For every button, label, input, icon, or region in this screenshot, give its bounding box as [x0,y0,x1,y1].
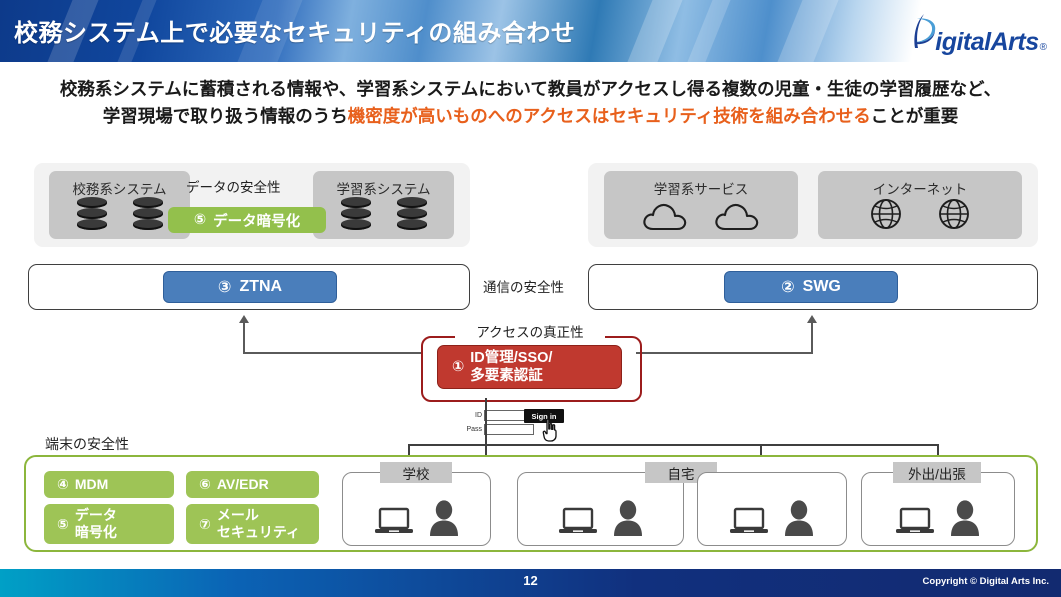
login-id-label: ID [462,412,482,419]
chip-av-edr[interactable]: ⑥ AV/EDR [186,471,319,498]
connector-right-arrow [807,315,817,323]
digital-arts-logo: igitalArts ® [904,12,1047,57]
lead-line-2-before: 学習現場で取り扱う情報のうち [103,106,348,126]
database-icon [397,197,427,231]
comm-security-caption: 通信の安全性 [483,276,564,296]
chip-av-edr-label: AV/EDR [217,476,269,493]
person-icon [949,500,981,536]
cloud-icon [714,201,760,231]
chip-mail-security-number: ⑦ [199,516,211,533]
access-authenticity-caption: アクセスの真正性 [455,321,605,341]
login-id-row: ID [462,410,582,421]
laptop-icon [729,506,769,536]
lead-paragraph: 校務系システムに蓄積される情報や、学習系システムにおいて教員がアクセスし得る複数… [0,76,1061,130]
chip-id-management-line2: 多要素認証 [470,368,543,384]
location-box-home-1 [517,472,684,546]
database-icon [341,197,371,231]
learning-service-box: 学習系サービス [604,171,798,239]
page-title: 校務システム上で必要なセキュリティの組み合わせ [14,13,575,48]
chip-id-management-number: ① [452,358,464,376]
person-icon [612,500,644,536]
chip-ztna[interactable]: ③ ZTNA [163,271,337,303]
chip-id-management-label: ID管理/SSO/ 多要素認証 [470,349,552,385]
learning-service-label: 学習系サービス [604,178,798,198]
chip-data-encryption-device[interactable]: ⑤ データ 暗号化 [44,504,174,544]
location-devices-home-2 [698,500,846,536]
connector-right-vertical [811,322,813,353]
chip-data-encryption-label: データ暗号化 [213,210,300,231]
connector-left-arrow [239,315,249,323]
lead-line-2: 学習現場で取り扱う情報のうち機密度が高いものへのアクセスはセキュリティ技術を組み… [0,103,1061,130]
database-icon [133,197,163,231]
cloud-icon [642,201,688,231]
learning-system-label: 学習系システム [313,178,454,198]
chip-av-edr-number: ⑥ [199,476,211,493]
chip-mdm-number: ④ [57,476,69,493]
location-label-travel: 外出/出張 [893,462,981,483]
chip-mdm[interactable]: ④ MDM [44,471,174,498]
login-pass-row: Pass [462,424,582,435]
login-form: ID Pass [462,410,582,444]
chip-ztna-number: ③ [218,277,232,297]
chip-mail-security[interactable]: ⑦ メール セキュリティ [186,504,319,544]
chip-mail-security-label: メール セキュリティ [217,507,300,541]
login-pass-label: Pass [462,426,482,433]
copyright-notice: Copyright © Digital Arts Inc. [923,576,1049,587]
chip-data-encryption: ⑤ データ暗号化 [168,207,326,233]
location-box-travel [861,472,1015,546]
internet-label: インターネット [818,178,1022,198]
learning-service-icons [604,201,798,231]
logo-wordmark: igitalArts [935,28,1038,57]
internet-icons [818,197,1022,231]
location-devices-home-1 [518,500,683,536]
location-box-school [342,472,491,546]
chip-swg-number: ② [781,277,795,297]
chip-id-management-line1: ID管理/SSO/ [470,350,552,366]
slide-header: 校務システム上で必要なセキュリティの組み合わせ igitalArts ® [0,0,1061,62]
hand-pointer-icon [541,418,559,442]
chip-mail-security-line1: メール [217,507,259,523]
location-devices-travel [862,500,1014,536]
database-icon [77,197,107,231]
chip-id-management[interactable]: ① ID管理/SSO/ 多要素認証 [437,345,622,389]
header-stripe [777,0,838,62]
chip-ztna-label: ZTNA [239,278,282,296]
globe-icon [869,197,903,231]
lead-line-2-after: ことが重要 [871,106,959,126]
slide-canvas: 校務システム上で必要なセキュリティの組み合わせ igitalArts ® 校務系… [0,0,1061,597]
device-security-caption: 端末の安全性 [45,434,129,454]
data-security-caption: データの安全性 [186,176,281,196]
laptop-icon [895,506,935,536]
chip-data-encryption-device-line2: 暗号化 [75,524,117,540]
bus-horizontal [408,444,938,446]
slide-footer: 12 Copyright © Digital Arts Inc. [0,569,1061,597]
connector-left-vertical [243,322,245,353]
chip-mail-security-line2: セキュリティ [217,524,300,540]
laptop-icon [374,506,414,536]
chip-mdm-label: MDM [75,476,108,493]
location-box-home-2 [697,472,847,546]
location-devices-school [343,500,490,536]
connector-left-horizontal [243,352,423,354]
header-stripe [627,0,682,62]
login-pass-input[interactable] [484,424,534,435]
chip-data-encryption-device-line1: データ [75,507,117,523]
lead-line-1: 校務系システムに蓄積される情報や、学習系システムにおいて教員がアクセスし得る複数… [0,76,1061,103]
internet-box: インターネット [818,171,1022,239]
digital-arts-d-mark [904,12,938,50]
learning-system-icons [313,197,454,231]
header-stripe [687,0,730,62]
person-icon [783,500,815,536]
registered-mark: ® [1040,42,1047,53]
person-icon [428,500,460,536]
page-number: 12 [0,573,1061,588]
school-admin-system-label: 校務系システム [49,178,190,198]
chip-data-encryption-device-label: データ 暗号化 [75,507,117,541]
connector-right-horizontal [636,352,813,354]
location-label-school: 学校 [380,462,452,483]
learning-system-box: 学習系システム [313,171,454,239]
chip-swg-label: SWG [803,278,841,296]
globe-icon [937,197,971,231]
chip-swg[interactable]: ② SWG [724,271,898,303]
chip-data-encryption-device-number: ⑤ [57,516,69,533]
lead-line-2-highlight: 機密度が高いものへのアクセスはセキュリティ技術を組み合わせる [348,106,871,126]
laptop-icon [558,506,598,536]
chip-data-encryption-number: ⑤ [194,212,206,228]
